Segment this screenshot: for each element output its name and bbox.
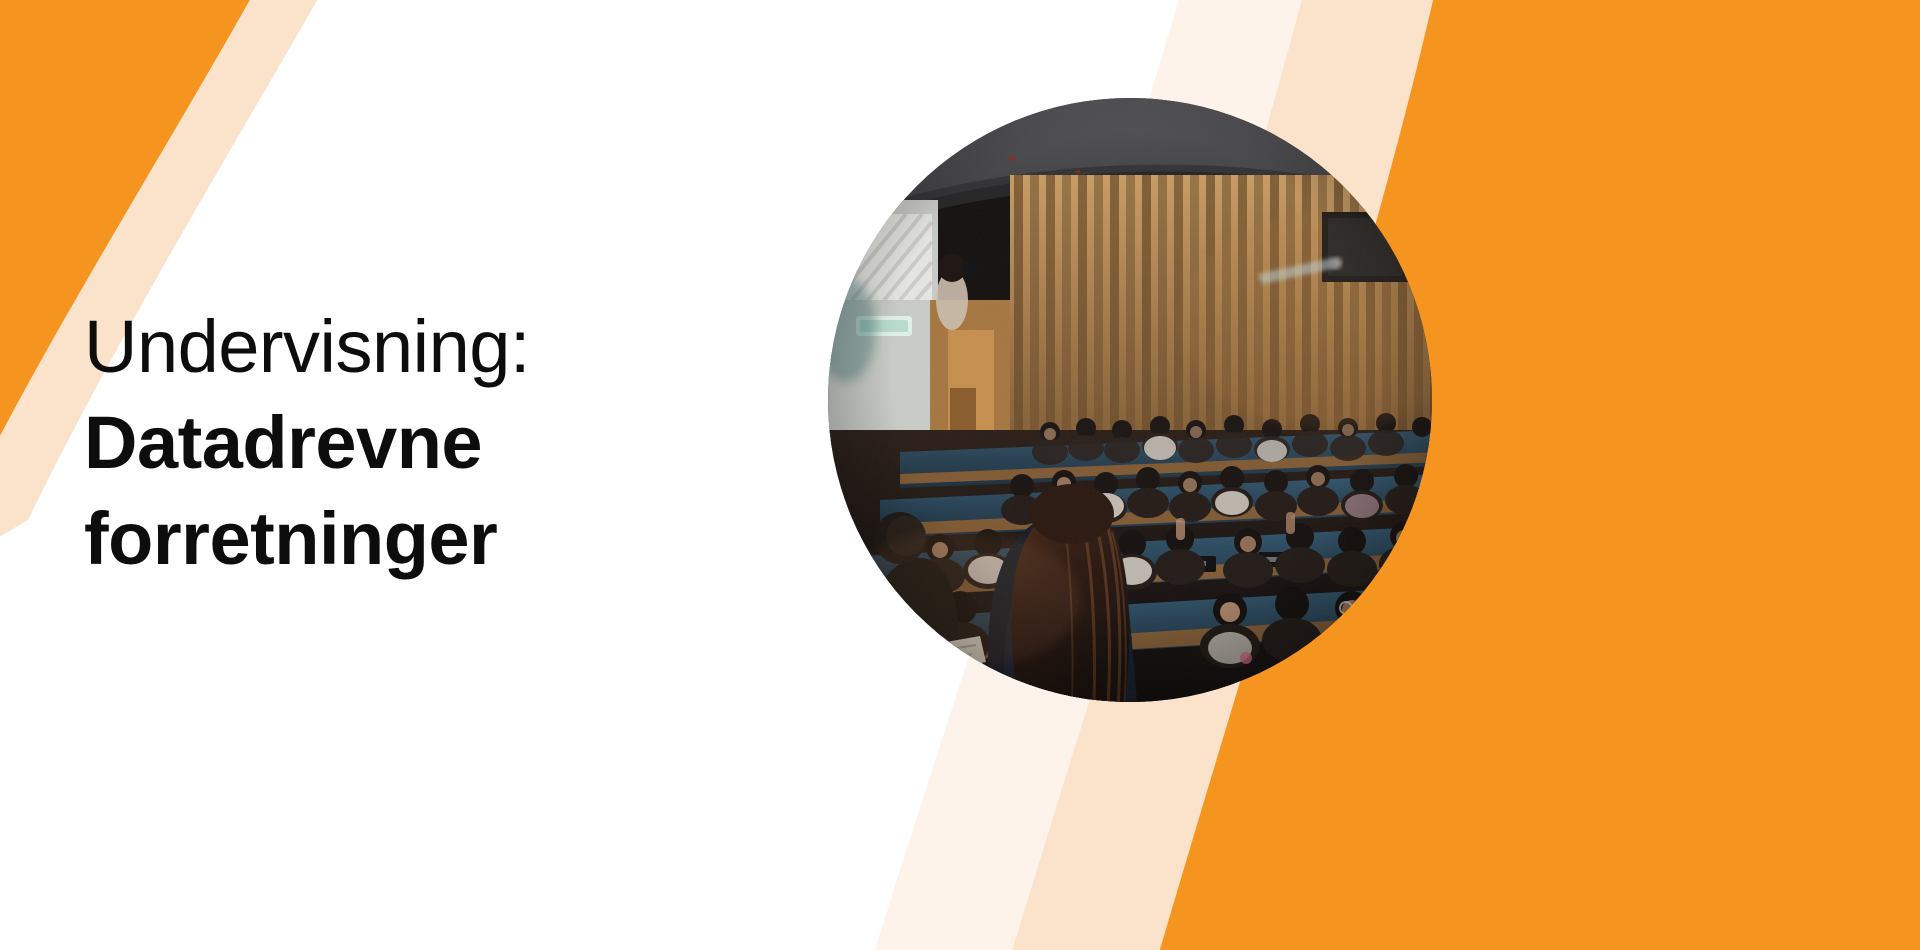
headline-title-line-1: Datadrevne bbox=[84, 395, 724, 491]
promo-banner: Undervisning: Datadrevne forretninger bbox=[0, 0, 1920, 950]
headline-title-line-2: forretninger bbox=[84, 491, 724, 587]
headline-eyebrow: Undervisning: bbox=[84, 300, 724, 395]
headline-block: Undervisning: Datadrevne forretninger bbox=[84, 300, 724, 587]
